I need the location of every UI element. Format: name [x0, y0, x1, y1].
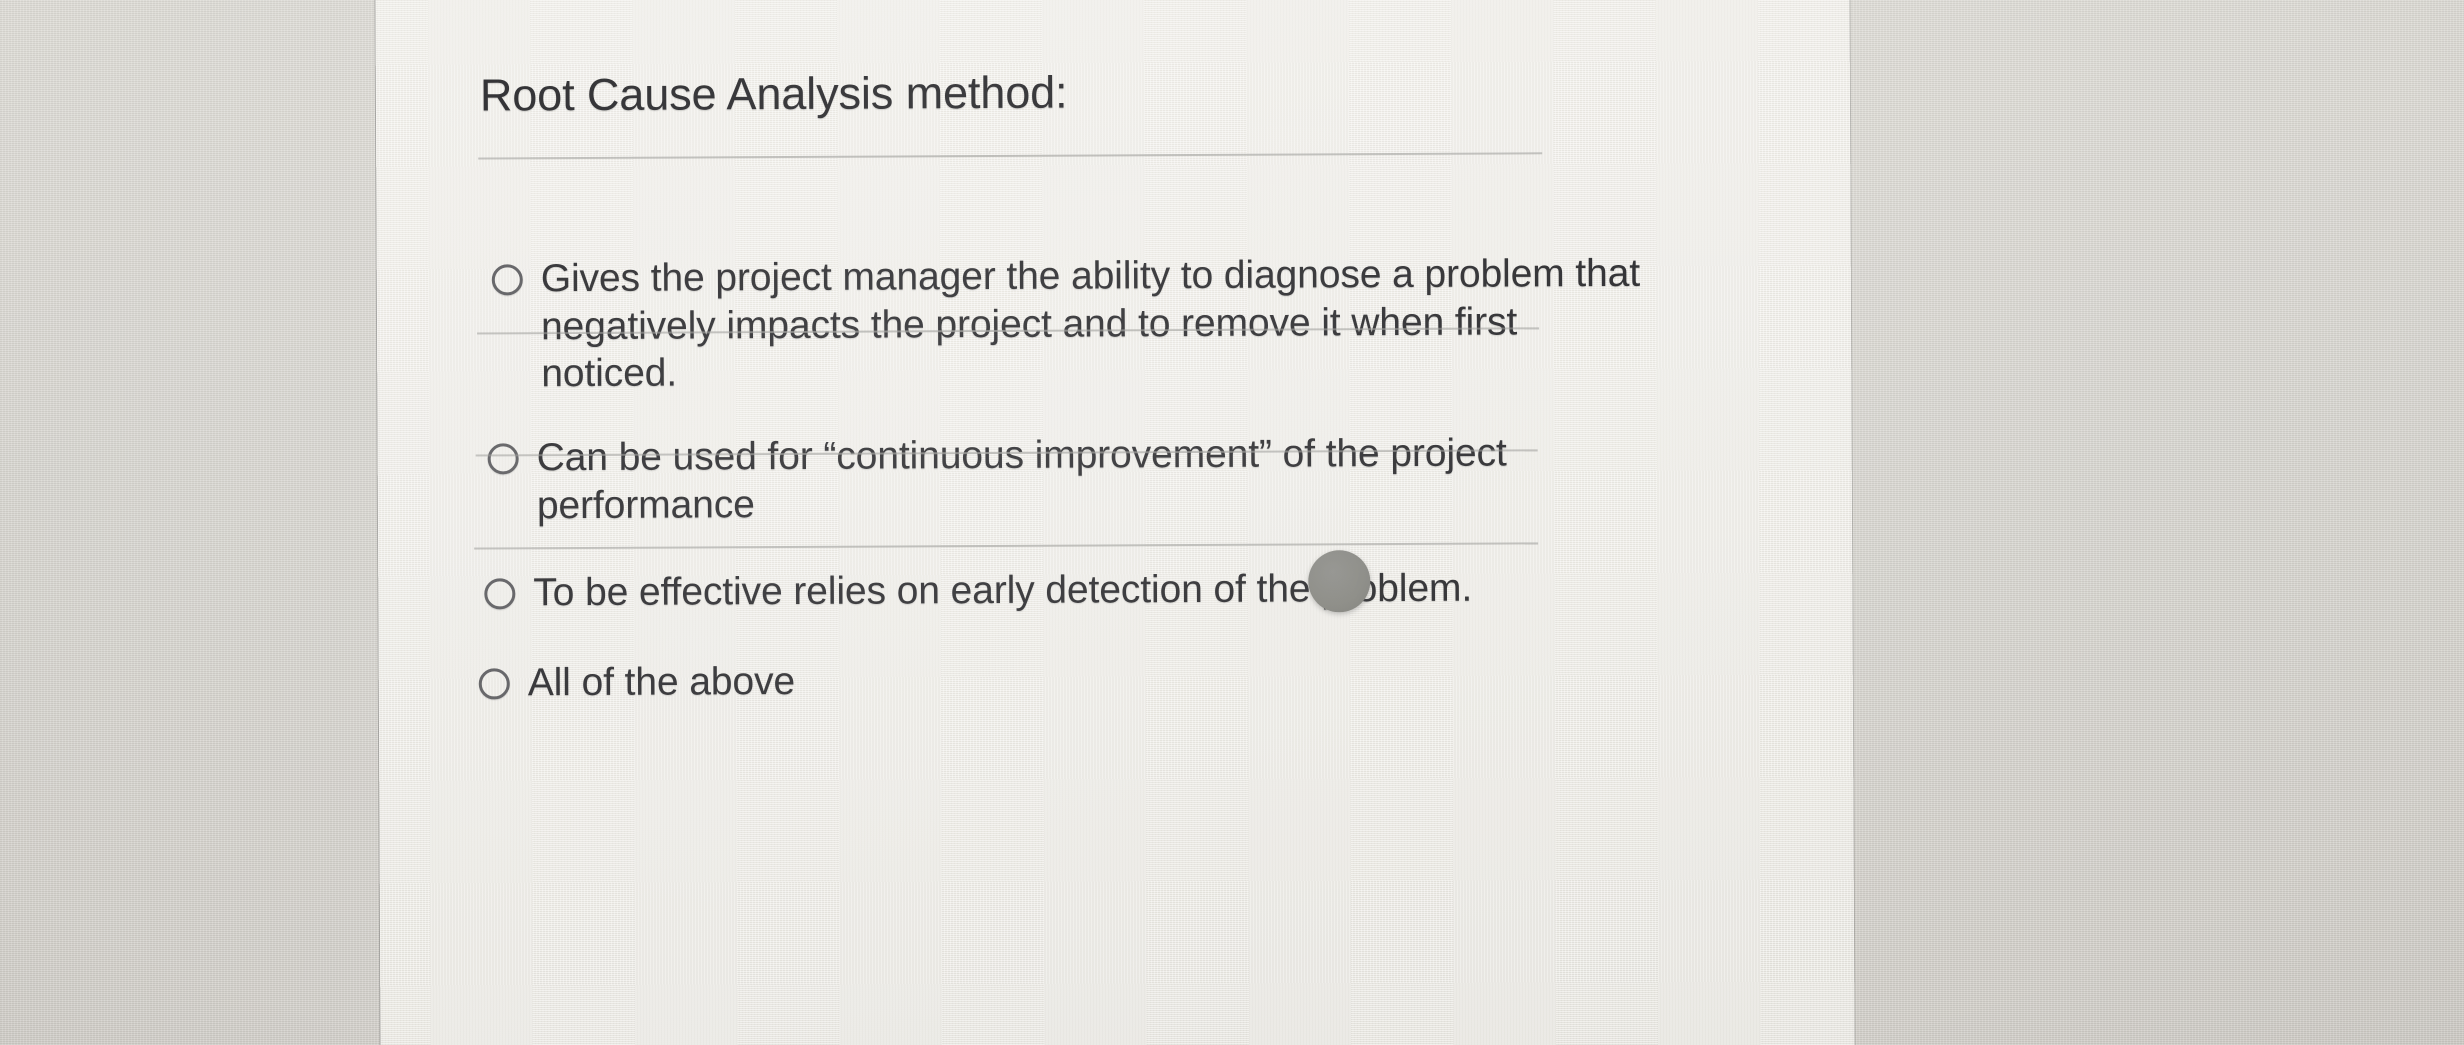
surface-right-margin: [1844, 0, 2464, 1045]
answer-option-all-of-the-above[interactable]: All of the above: [479, 654, 1599, 707]
radio-button-icon[interactable]: [492, 264, 523, 295]
option-divider: [478, 152, 1542, 159]
answer-option-early-detection[interactable]: To be effective relies on early detectio…: [484, 564, 1604, 617]
option-divider: [474, 542, 1538, 549]
answer-option-label: Gives the project manager the ability to…: [541, 250, 1643, 398]
question-card-content: Root Cause Analysis method: Gives the pr…: [375, 0, 1854, 1045]
question-title: Root Cause Analysis method:: [480, 67, 1068, 122]
answer-option-label: Can be used for “continuous improvement”…: [537, 429, 1618, 529]
radio-button-icon[interactable]: [488, 443, 519, 474]
answer-option-label: All of the above: [528, 658, 795, 707]
radio-button-icon[interactable]: [479, 668, 510, 699]
surface-left-margin: [0, 0, 390, 1045]
radio-button-icon[interactable]: [484, 578, 515, 609]
answer-option-gives-project-manager-ability[interactable]: Gives the project manager the ability to…: [492, 250, 1643, 398]
question-card: Root Cause Analysis method: Gives the pr…: [375, 0, 1854, 1045]
answer-option-continuous-improvement[interactable]: Can be used for “continuous improvement”…: [488, 429, 1618, 530]
screenshot-root: Root Cause Analysis method: Gives the pr…: [0, 0, 2464, 1045]
cursor-dot-icon: [1308, 550, 1370, 612]
